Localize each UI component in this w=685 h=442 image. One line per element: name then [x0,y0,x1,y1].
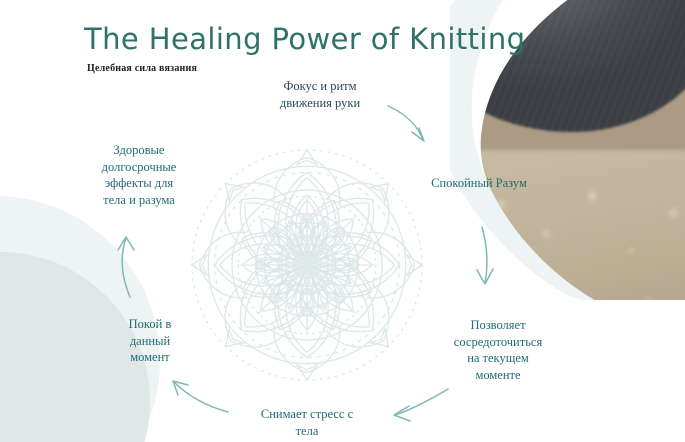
cycle-node-present: Позволяетсосредоточитьсяна текущеммомент… [432,317,564,383]
slide-canvas: The Healing Power of Knitting Целебная с… [0,0,685,442]
arrow-peace-to-health [118,237,134,297]
cycle-node-health: Здоровыедолгосрочныеэффекты длятела и ра… [78,142,200,208]
cycle-node-calm: Спокойный Разум [404,175,554,192]
cycle-node-peace: Покой вданныймомент [96,316,204,366]
beige-yarn-texture [470,150,685,300]
mandala-watermark [182,140,432,390]
cycle-node-stress: Снимает стресс стела [232,406,382,439]
cycle-node-focus: Фокус и ритмдвижения руки [240,78,400,111]
page-subtitle: Целебная сила вязания [87,63,197,74]
arrow-focus-to-calm [388,106,424,141]
grey-yarn-ball [450,0,685,132]
page-title: The Healing Power of Knitting [84,22,525,56]
arrow-present-to-stress [394,389,448,421]
arrow-stress-to-peace [173,381,228,412]
